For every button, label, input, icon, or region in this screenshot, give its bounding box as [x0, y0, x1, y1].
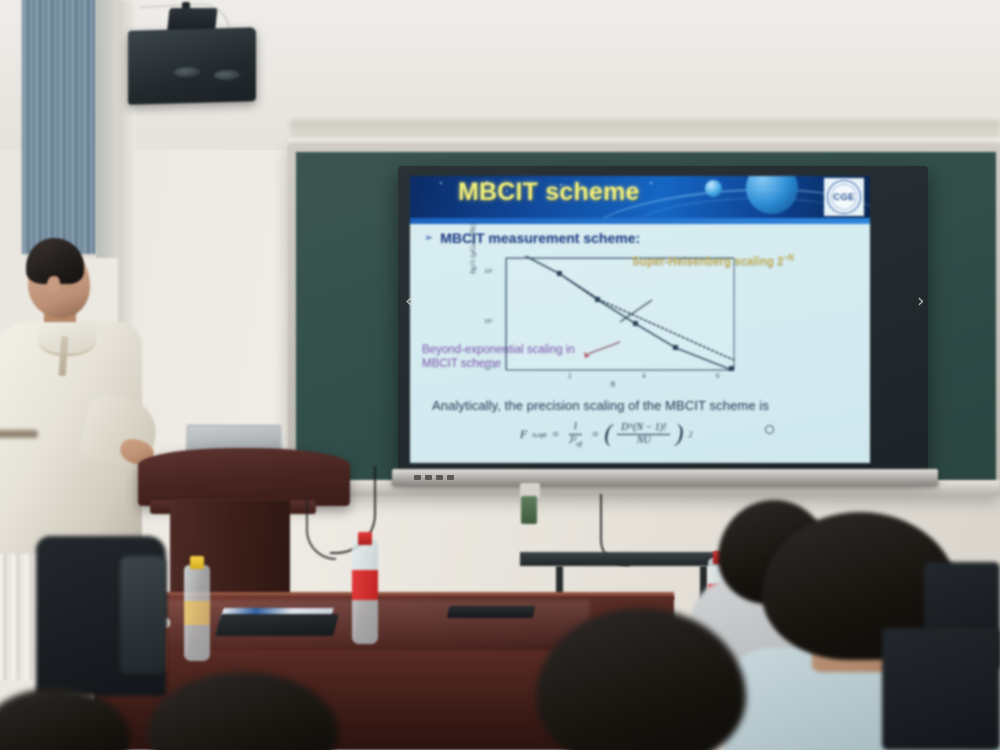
formula-fraction-1: 1 J²eff: [565, 422, 586, 448]
super-heisenberg-exponent: −N: [783, 253, 793, 262]
display-button[interactable]: [425, 475, 432, 480]
logo-seal-icon: CGE: [827, 180, 861, 214]
slide-title: MBCIT scheme: [458, 178, 640, 207]
beyond-exponential-annotation: Beyond-exponential scaling in MBCIT sche…: [422, 344, 582, 371]
analytic-statement: Analytically, the precision scaling of t…: [432, 398, 852, 413]
keyboard: [447, 606, 536, 618]
formula-exponent: 2: [688, 430, 692, 439]
presenter-sleeve-trim: [0, 430, 38, 438]
formula-frac1-numerator: 1: [569, 422, 582, 435]
formula-fraction-2: Dᴺ(N − 1)! NU: [617, 423, 670, 447]
logo-text: CGE: [833, 192, 855, 203]
lecture-room-scene: MBCIT scheme CGE ➢ MBCIT measurement sch…: [0, 0, 1000, 750]
speaker-cone-icon: [214, 70, 240, 81]
presentation-slide: MBCIT scheme CGE ➢ MBCIT measurement sch…: [410, 176, 870, 463]
bottle-cap: [190, 556, 204, 569]
formula-frac2-numerator: Dᴺ(N − 1)!: [617, 423, 670, 436]
formula-equals-1: =: [552, 427, 560, 442]
backpack-strap: [120, 556, 166, 674]
chair: [882, 628, 1000, 750]
cursor-ring-icon[interactable]: [765, 425, 774, 434]
display-button[interactable]: [447, 475, 454, 480]
bottle-label: [184, 601, 210, 625]
document-folder: [215, 614, 338, 636]
formula-open-paren: (: [604, 425, 612, 444]
slide-bullet: ➢ MBCIT measurement scheme:: [424, 230, 640, 246]
display-button[interactable]: [414, 475, 421, 480]
display-bottom-bezel: [392, 469, 938, 486]
display-button[interactable]: [436, 475, 443, 480]
cge-logo: CGE: [824, 178, 864, 216]
precision-scaling-formula: Fn,opt = 1 J²eff = ( Dᴺ(N − 1)! NU ) 2: [520, 422, 692, 448]
beyond-exponential-line2: MBCIT scheme: [422, 358, 582, 372]
formula-frac1-den-subscript: eff: [576, 442, 582, 448]
display-control-buttons[interactable]: [414, 474, 466, 480]
formula-lhs: F: [520, 427, 527, 442]
beyond-exponential-line1: Beyond-exponential scaling in: [422, 344, 582, 358]
formula-frac1-den-text: J²: [569, 435, 576, 446]
chevron-left-icon[interactable]: ‹: [405, 292, 413, 311]
chevron-right-icon[interactable]: ›: [917, 292, 925, 311]
bottle-label: [352, 570, 378, 600]
super-heisenberg-text: Super-Heisenberg scaling 2: [632, 256, 783, 268]
formula-close-paren: ): [675, 425, 683, 444]
speaker-cone-icon: [174, 67, 200, 78]
water-bottle: [352, 540, 378, 644]
planet-graphic-small: [705, 180, 722, 197]
presenter-ear: [47, 276, 60, 293]
wall-speaker: [128, 27, 256, 105]
super-heisenberg-annotation: Super-Heisenberg scaling 2−N: [632, 254, 822, 268]
bottle-cap: [358, 532, 372, 545]
formula-frac1-denominator: J²eff: [565, 435, 586, 448]
window-curtain: [22, 0, 96, 254]
bullet-arrow-icon: ➢: [424, 233, 433, 244]
formula-lhs-subscript: n,opt: [532, 431, 546, 439]
water-bottle: [184, 565, 210, 661]
slide-title-banner: MBCIT scheme CGE: [410, 176, 870, 218]
wall-outlet: [521, 496, 537, 524]
slide-divider: [410, 218, 870, 224]
chart-y-axis-label: δg√τ (μGal √Hz): [468, 223, 477, 274]
formula-frac2-denominator: NU: [633, 435, 655, 447]
formula-equals-2: =: [591, 427, 599, 442]
